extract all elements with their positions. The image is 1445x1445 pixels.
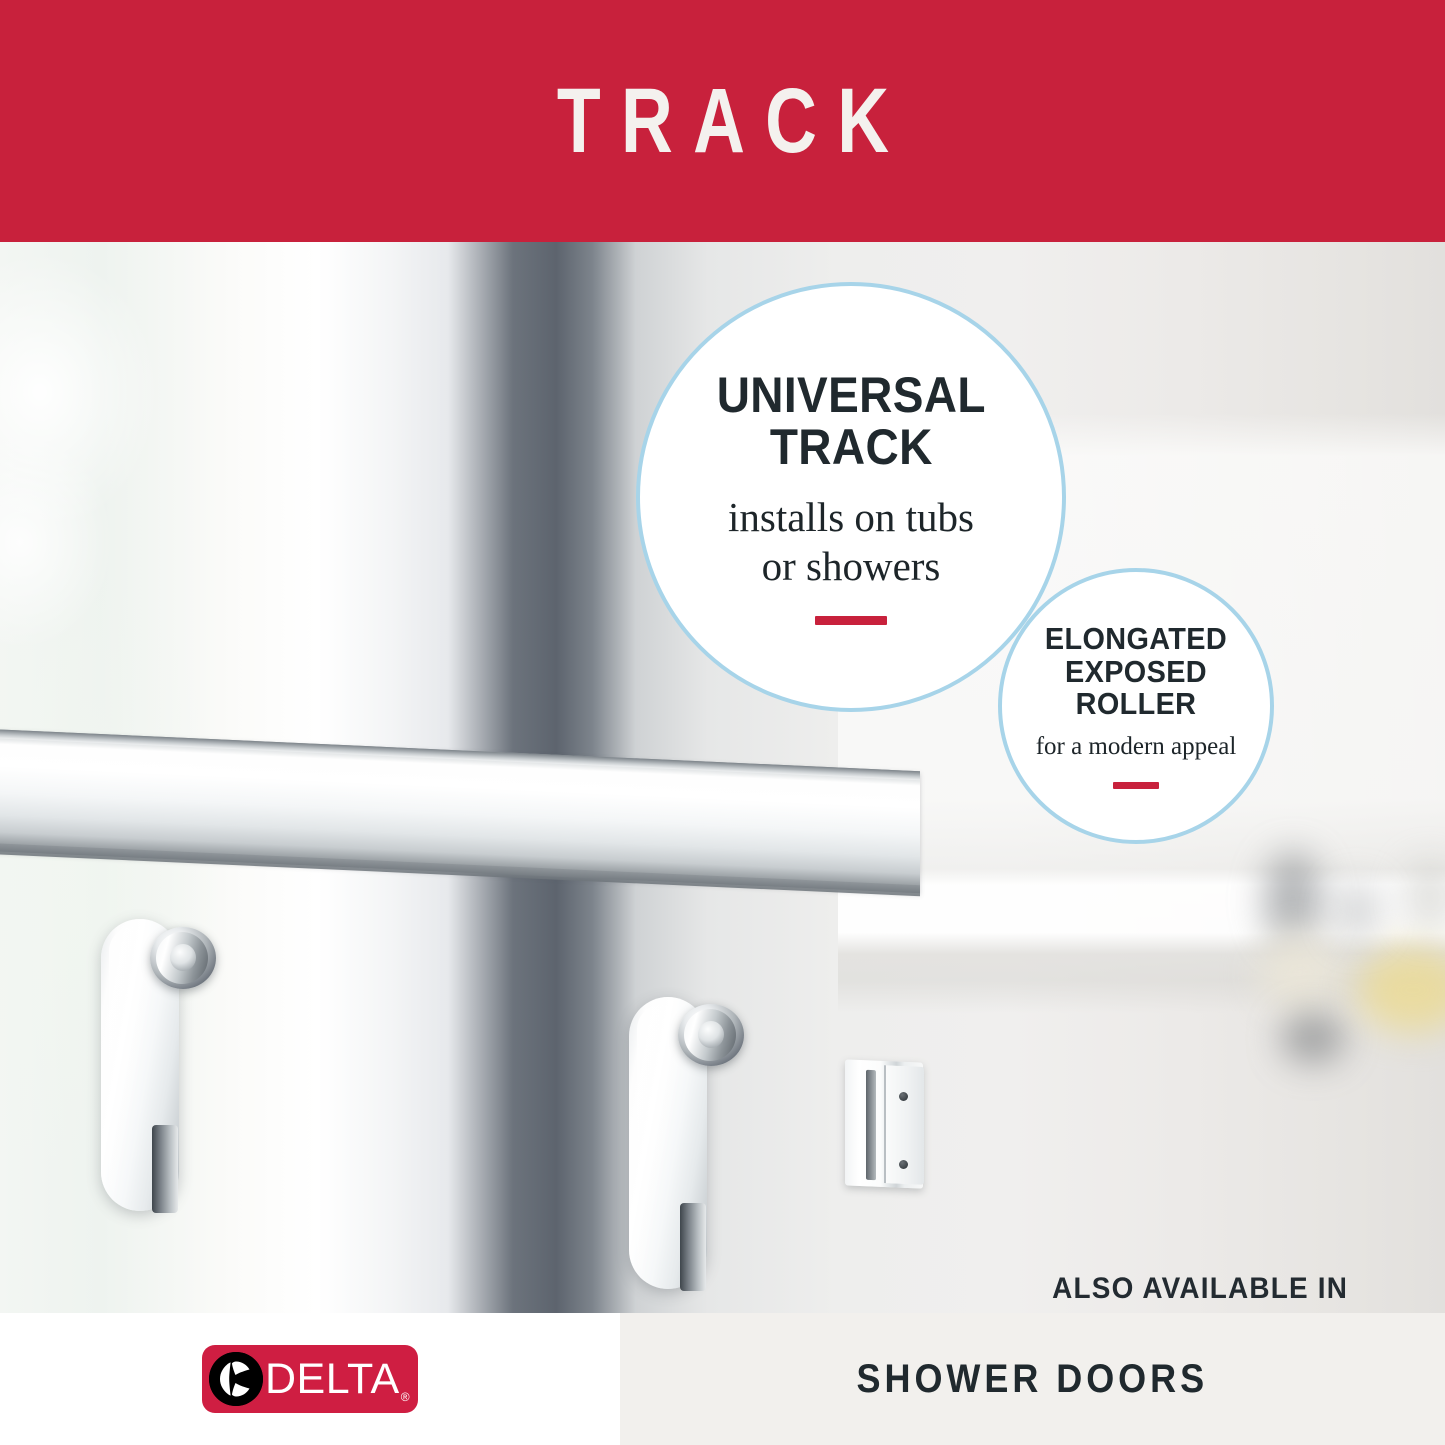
screw-hole-icon: [899, 1092, 908, 1101]
callout-elongated-exposed-roller: ELONGATED EXPOSED ROLLER for a modern ap…: [998, 568, 1274, 844]
screw-hole-icon: [899, 1160, 908, 1169]
callout-elongated-exposed-roller-heading: ELONGATED EXPOSED ROLLER: [1011, 623, 1260, 720]
roller-bracket-right-highlight: [637, 1005, 685, 1281]
roller-bracket-left-highlight: [109, 927, 157, 1203]
roller-wheel-hub: [170, 944, 196, 971]
footer-tagline: SHOWER DOORS: [857, 1357, 1209, 1402]
roller-wheel-hub: [698, 1021, 724, 1048]
glass-clip-left: [152, 1125, 178, 1213]
callout-divider-dash: [1113, 782, 1159, 789]
delta-triangle-icon: [209, 1352, 263, 1406]
page-title: TRACK: [536, 75, 909, 167]
glass-clip-right: [680, 1203, 706, 1291]
product-feature-card: TRACK: [0, 0, 1445, 1445]
registered-trademark-icon: ®: [401, 1390, 410, 1404]
callout-elongated-exposed-roller-subtext: for a modern appeal: [1036, 732, 1237, 762]
footer-bar: DELTA ® SHOWER DOORS: [0, 1313, 1445, 1445]
callout-divider-dash: [815, 616, 887, 625]
callout-universal-track-subtext: installs on tubs or showers: [728, 493, 974, 590]
product-photo-stage: UNIVERSAL TRACK installs on tubs or show…: [0, 242, 1445, 1313]
header-banner: TRACK: [0, 0, 1445, 242]
delta-logo[interactable]: DELTA ®: [202, 1345, 418, 1413]
footer-category-area: SHOWER DOORS: [620, 1313, 1445, 1445]
also-available-section: ALSO AVAILABLE IN BRUSHED NICKEL MATTE B…: [1015, 1272, 1385, 1313]
callout-universal-track-heading: UNIVERSAL TRACK: [716, 369, 985, 473]
delta-wordmark: DELTA: [265, 1358, 400, 1401]
track-endcap-slot: [866, 1070, 876, 1180]
callout-universal-track: UNIVERSAL TRACK installs on tubs or show…: [636, 282, 1066, 712]
also-available-title: ALSO AVAILABLE IN: [1052, 1272, 1348, 1306]
footer-brand-area: DELTA ®: [0, 1313, 620, 1445]
